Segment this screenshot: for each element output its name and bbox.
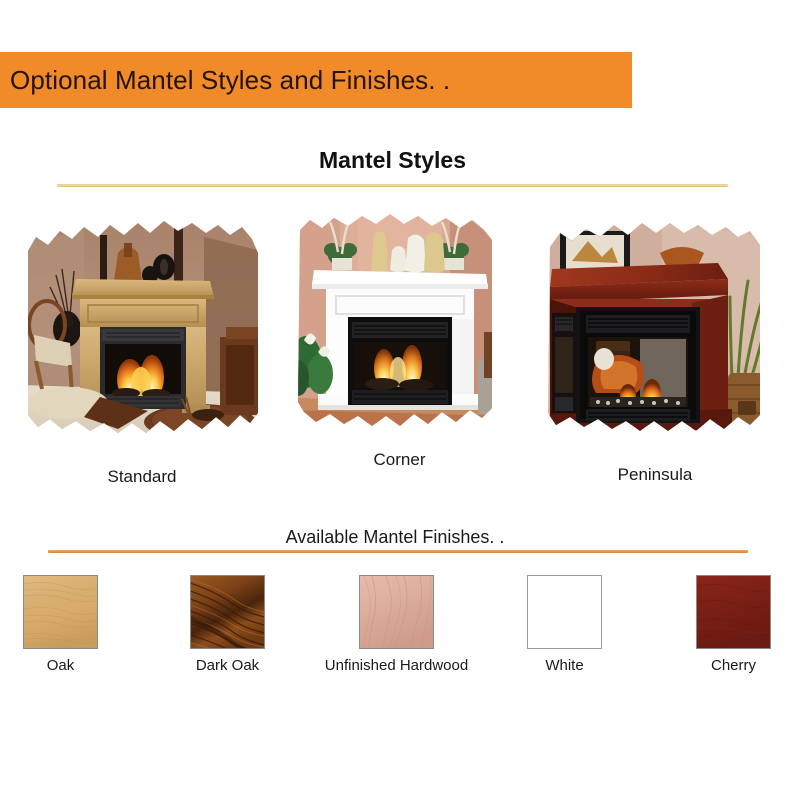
standard-mantel-fireplace-photo xyxy=(22,217,262,442)
page-root: Optional Mantel Styles and Finishes. . M… xyxy=(0,0,800,800)
finish-swatch-oak[interactable] xyxy=(23,575,98,649)
finish-swatch-cell-dark-oak[interactable]: Dark Oak xyxy=(190,575,265,649)
finish-swatch-row: Oak xyxy=(0,575,800,685)
gold-divider-rule xyxy=(57,184,728,187)
finish-swatch-cherry[interactable] xyxy=(696,575,771,649)
dark-oak-grain-texture xyxy=(191,576,265,649)
mantel-style-card-peninsula[interactable]: Peninsula xyxy=(542,217,768,443)
mantel-styles-row: Standard xyxy=(0,205,800,495)
mantel-style-label-standard: Standard xyxy=(22,467,262,487)
peninsula-mantel-fireplace-photo xyxy=(542,217,768,443)
mantel-styles-heading: Mantel Styles xyxy=(0,147,785,174)
header-banner-title: Optional Mantel Styles and Finishes. . xyxy=(0,65,450,96)
corner-mantel-fireplace-photo xyxy=(292,212,507,434)
cherry-grain-texture xyxy=(697,576,771,649)
finish-label-unfinished-hardwood: Unfinished Hardwood xyxy=(325,657,468,674)
mantel-style-card-corner[interactable]: Corner xyxy=(292,212,507,434)
mantel-style-card-standard[interactable]: Standard xyxy=(22,217,262,442)
finish-label-oak: Oak xyxy=(47,657,75,674)
finish-swatch-unfinished-hardwood[interactable] xyxy=(359,575,434,649)
finish-label-dark-oak: Dark Oak xyxy=(196,657,259,674)
finish-swatch-dark-oak[interactable] xyxy=(190,575,265,649)
finish-label-white: White xyxy=(545,657,583,674)
mantel-style-label-peninsula: Peninsula xyxy=(542,465,768,485)
finish-label-cherry: Cherry xyxy=(711,657,756,674)
orange-divider-rule xyxy=(48,550,748,553)
finish-swatch-white[interactable] xyxy=(527,575,602,649)
mantel-style-label-corner: Corner xyxy=(292,450,507,470)
finish-swatch-cell-cherry[interactable]: Cherry xyxy=(696,575,771,649)
header-banner: Optional Mantel Styles and Finishes. . xyxy=(0,52,632,108)
available-finishes-heading: Available Mantel Finishes. . xyxy=(0,527,790,548)
unfinished-hardwood-grain-texture xyxy=(360,576,434,649)
finish-swatch-cell-unfinished-hardwood[interactable]: Unfinished Hardwood xyxy=(359,575,434,649)
finish-swatch-cell-white[interactable]: White xyxy=(527,575,602,649)
finish-swatch-cell-oak[interactable]: Oak xyxy=(23,575,98,649)
oak-grain-texture xyxy=(24,576,98,649)
